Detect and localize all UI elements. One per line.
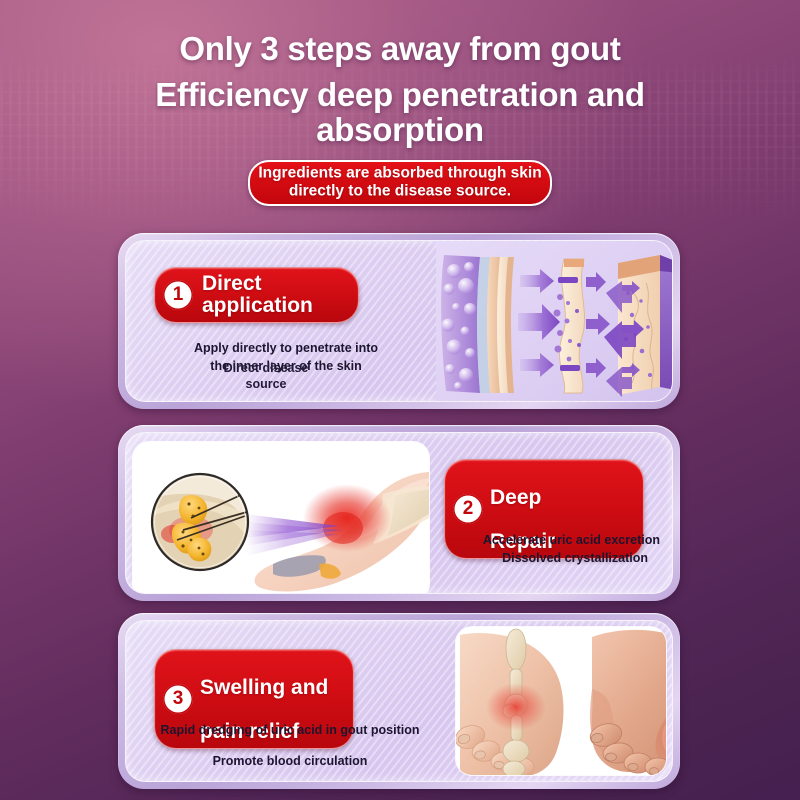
step-card-1[interactable]: 1 Direct application Apply directly to p… [118,233,680,409]
step-card-3-inner: 3 Swelling and pain relief Rapid dredgin… [125,620,673,782]
right-foot-bunion [588,630,666,775]
step-card-1-text-pane: 1 Direct application Apply directly to p… [126,241,436,401]
step-card-2-text-pane: 2 Deep Repair Accelerate uric acid excre… [436,433,672,593]
step-2-bullet-1: Accelerate uric acid excretion [436,531,662,549]
foot-magnifier-svg [133,442,429,593]
step-1-media-pane [436,241,672,401]
step-2-number: 2 [453,494,483,524]
gout-feet-svg [456,627,666,775]
skin-layer-penetration-illustration [436,241,672,401]
ingredients-banner-text: Ingredients are absorbed through skin di… [235,165,565,202]
step-3-bullet-2: Promote blood circulation [134,752,446,770]
step-1-bullet-1: Apply directly to penetrate into [136,339,436,357]
ingredients-banner-badge: Ingredients are absorbed through skin di… [248,160,552,206]
panel-a-gel-on-skin [441,255,514,393]
step-card-1-inner: 1 Direct application Apply directly to p… [125,240,673,402]
step-1-badge: 1 Direct application [154,267,359,323]
promo-poster: Only 3 steps away from gout Efficiency d… [0,0,800,800]
arrows-a-to-b [518,269,560,377]
step-1-title-line-1: Direct [202,272,262,295]
step-card-3[interactable]: 3 Swelling and pain relief Rapid dredgin… [118,613,680,789]
step-2-bullet-2: Dissolved crystallization [436,549,662,567]
left-foot-inflamed-joint [486,683,546,731]
gout-feet-comparison-illustration [456,627,666,775]
step-1-overlap-caption: Direct disease source [166,360,366,393]
step-1-title: Direct application [202,273,313,317]
step-2-title-line-1: Deep [490,486,541,509]
step-1-number: 1 [163,280,193,310]
step-3-bullet-1: Rapid dredging of uric acid in gout posi… [134,721,446,739]
headline-primary: Only 3 steps away from gout [0,31,800,67]
step-3-bullets: Rapid dredging of uric acid in gout posi… [134,721,446,770]
header: Only 3 steps away from gout Efficiency d… [0,0,800,148]
step-2-bullets: Accelerate uric acid excretion Dissolved… [436,531,662,567]
panel-b-skin-sheet [554,259,611,393]
banner-container: Ingredients are absorbed through skin di… [0,160,800,206]
step-3-media-pane [446,621,672,781]
headline-secondary: Efficiency deep penetration and absorpti… [0,77,800,148]
step-card-3-text-pane: 3 Swelling and pain relief Rapid dredgin… [126,621,446,781]
step-card-2-inner: 2 Deep Repair Accelerate uric acid excre… [125,432,673,594]
step-card-2[interactable]: 2 Deep Repair Accelerate uric acid excre… [118,425,680,601]
magnifier-lens [152,474,248,570]
skin-layers-svg [436,241,672,401]
step-3-number: 3 [163,684,193,714]
step-3-title-line-1: Swelling and [200,676,328,699]
panel-c-tissue-block [604,255,672,397]
foot-magnifier-uric-acid-illustration [133,442,429,593]
step-2-media-pane [126,433,436,593]
step-1-title-line-2: application [202,295,313,317]
